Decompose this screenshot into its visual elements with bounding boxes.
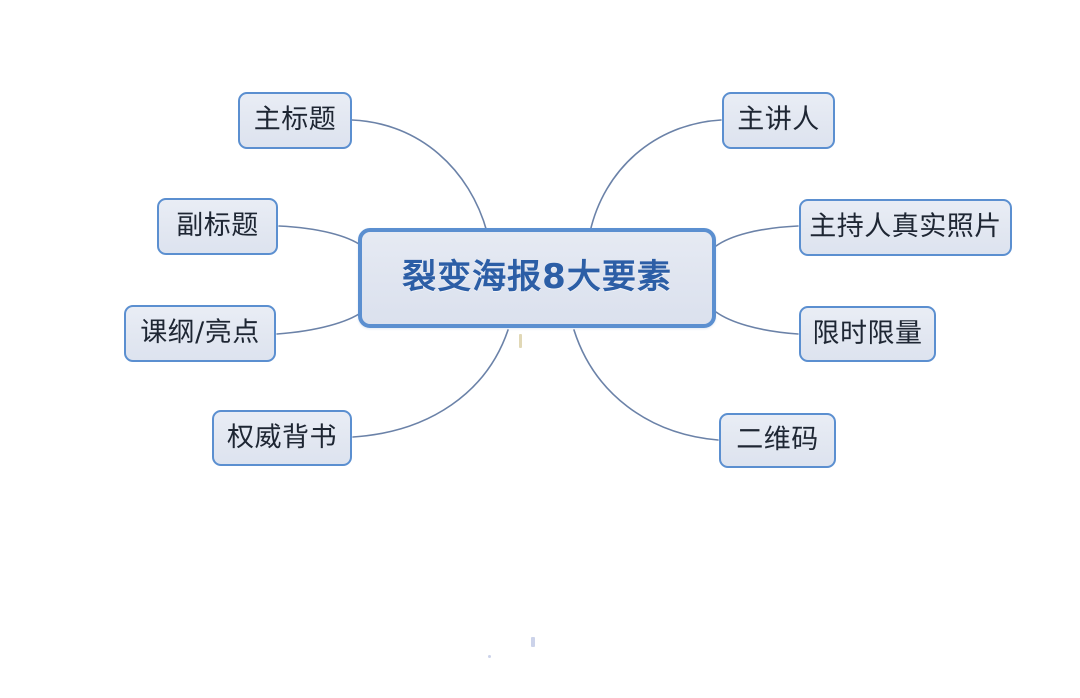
branch-node-speaker[interactable]: 主讲人 [722,92,835,149]
branch-label-host-photo: 主持人真实照片 [809,213,1002,242]
branch-label-outline-hilite: 课纲/亮点 [140,319,260,348]
connector-speaker [590,120,721,232]
branch-node-host-photo[interactable]: 主持人真实照片 [799,199,1012,256]
connector-host-photo [716,226,798,246]
branch-node-qr-code[interactable]: 二维码 [719,413,836,468]
branch-node-sub-title[interactable]: 副标题 [157,198,278,255]
center-node[interactable]: 裂变海报8大要素 [358,228,716,328]
branch-node-main-title[interactable]: 主标题 [238,92,352,149]
connector-outline-hilite [277,312,362,334]
connector-main-title [352,120,487,232]
branch-node-outline-hilite[interactable]: 课纲/亮点 [124,305,276,362]
connector-limited-offer [716,312,798,334]
branch-label-limited-offer: 限时限量 [813,320,923,349]
artifact-speck [488,655,491,658]
artifact-speck [531,637,535,647]
center-node-label: 裂变海报8大要素 [402,260,672,296]
artifact-speck [519,334,522,348]
branch-label-sub-title: 副标题 [176,212,259,241]
branch-node-authority[interactable]: 权威背书 [212,410,352,466]
connector-authority [353,330,508,437]
branch-label-main-title: 主标题 [254,106,337,135]
branch-label-authority: 权威背书 [227,424,337,453]
branch-label-speaker: 主讲人 [737,106,820,135]
branch-label-qr-code: 二维码 [736,426,819,455]
connector-sub-title [279,226,362,246]
branch-node-limited-offer[interactable]: 限时限量 [799,306,936,362]
diagram-canvas: 裂变海报8大要素 主标题 副标题 课纲/亮点 权威背书 主讲人 主持人真实照片 … [0,0,1080,698]
connector-qr-code [574,330,718,440]
